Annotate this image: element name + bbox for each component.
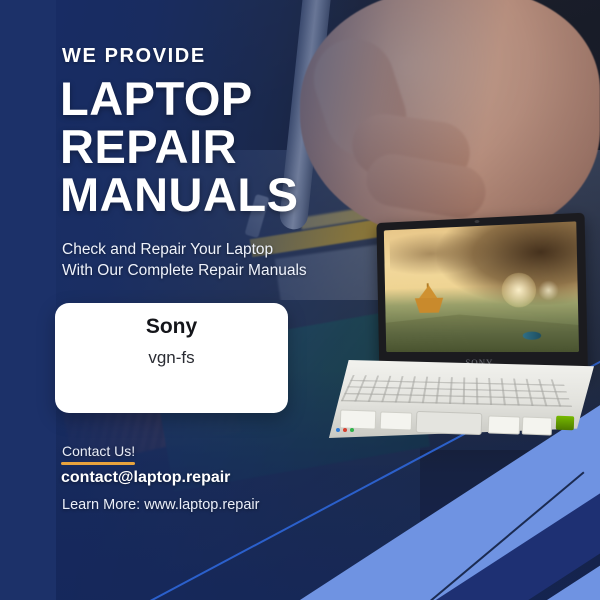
learn-more-link[interactable]: Learn More: www.laptop.repair: [62, 497, 259, 513]
eyebrow-text: WE PROVIDE: [62, 45, 206, 68]
contact-underline-rule: [61, 462, 135, 465]
headline-line-1: LAPTOP: [60, 75, 390, 123]
subtitle-line-1: Check and Repair Your Laptop: [62, 239, 307, 260]
contact-email[interactable]: contact@laptop.repair: [61, 469, 230, 487]
product-card[interactable]: Sony vgn-fs: [55, 303, 288, 413]
page-title: LAPTOP REPAIR MANUALS: [60, 75, 390, 219]
promo-banner: SONY WE PROVIDE LAPTOP REPAIR MANUALS Ch…: [0, 0, 600, 600]
product-brand: Sony: [55, 315, 288, 339]
product-model: vgn-fs: [55, 348, 288, 368]
headline-line-3: MANUALS: [60, 171, 390, 219]
subtitle: Check and Repair Your Laptop With Our Co…: [62, 239, 307, 281]
contact-label: Contact Us!: [62, 443, 135, 459]
headline-line-2: REPAIR: [60, 123, 390, 171]
subtitle-line-2: With Our Complete Repair Manuals: [62, 260, 307, 281]
banner-content: WE PROVIDE LAPTOP REPAIR MANUALS Check a…: [0, 0, 600, 600]
